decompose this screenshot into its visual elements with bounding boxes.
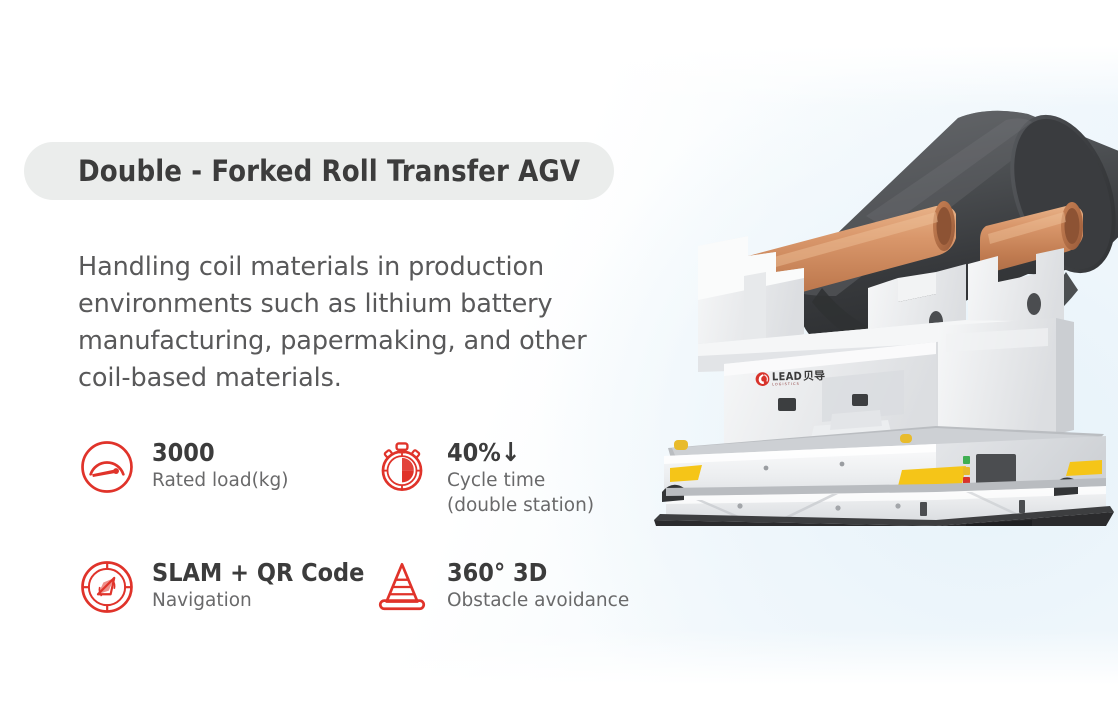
feature-text: 40%↓ Cycle time (double station) <box>447 436 594 518</box>
feature-label: Navigation <box>152 588 364 613</box>
feature-text: SLAM + QR Code Navigation <box>152 556 364 613</box>
feature-cycle-time: 40%↓ Cycle time (double station) <box>373 436 638 556</box>
feature-label-secondary: (double station) <box>447 493 594 518</box>
feature-spec-grid: 3000 Rated load(kg) <box>78 436 638 616</box>
feature-obstacle-avoidance: 360° 3D Obstacle avoidance <box>373 556 638 616</box>
gauge-icon <box>78 438 136 496</box>
feature-value-number: 40% <box>447 438 501 467</box>
feature-value: SLAM + QR Code <box>152 558 364 588</box>
feature-row: SLAM + QR Code Navigation 360° 3D Obstac… <box>78 556 638 616</box>
logo-cjk: 贝导 <box>803 370 825 381</box>
feature-label: Rated load(kg) <box>152 468 288 493</box>
down-arrow-icon: ↓ <box>501 438 521 468</box>
lead-logo-mark <box>755 372 770 387</box>
feature-value: 3000 <box>152 438 288 468</box>
logo-word: LEAD <box>772 371 802 383</box>
feature-label: Cycle time <box>447 468 594 493</box>
feature-value: 40%↓ <box>447 438 594 468</box>
feature-text: 360° 3D Obstacle avoidance <box>447 556 629 613</box>
feature-rated-load: 3000 Rated load(kg) <box>78 436 373 556</box>
feature-row: 3000 Rated load(kg) <box>78 436 638 556</box>
feature-text: 3000 Rated load(kg) <box>152 436 288 493</box>
page-title: Double - Forked Roll Transfer AGV <box>78 154 580 188</box>
feature-label: Obstacle avoidance <box>447 588 629 613</box>
top-fade <box>0 0 1118 108</box>
product-description: Handling coil materials in production en… <box>78 249 643 397</box>
bottom-fade <box>0 629 1118 719</box>
stopwatch-icon <box>373 438 431 496</box>
feature-value: 360° 3D <box>447 558 629 588</box>
product-image-agv <box>636 96 1118 526</box>
feature-navigation: SLAM + QR Code Navigation <box>78 556 373 616</box>
compass-icon <box>78 558 136 616</box>
title-pill: Double - Forked Roll Transfer AGV <box>24 142 614 200</box>
brand-logo: LEAD 贝导 LOGISTICS <box>755 370 825 387</box>
traffic-cone-icon <box>373 558 431 616</box>
